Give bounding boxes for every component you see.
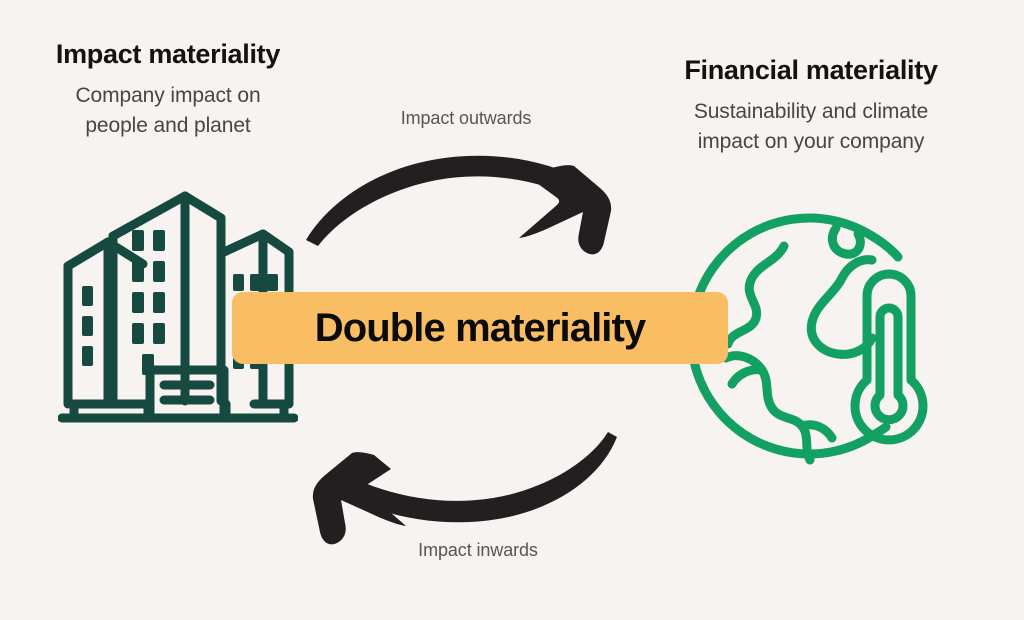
diagram-canvas: Impact materiality Company impact on peo… (0, 0, 1024, 620)
financial-materiality-subtitle-line2: impact on your company (601, 127, 1021, 157)
impact-outwards-arrow-icon (306, 156, 611, 255)
financial-materiality-heading-group: Financial materiality Sustainability and… (601, 56, 1021, 156)
thermometer-icon (855, 274, 923, 440)
impact-materiality-title: Impact materiality (0, 40, 378, 70)
financial-materiality-subtitle: Sustainability and climate impact on you… (601, 97, 1021, 157)
financial-materiality-title: Financial materiality (601, 56, 1021, 86)
financial-materiality-subtitle-line1: Sustainability and climate (601, 97, 1021, 127)
impact-inwards-label: Impact inwards (328, 540, 628, 561)
impact-inwards-arrow-icon (313, 432, 617, 544)
globe-outline-arc-right (872, 236, 898, 257)
impact-materiality-subtitle-line1: Company impact on (0, 81, 378, 111)
double-materiality-banner: Double materiality (232, 292, 728, 364)
impact-outwards-label: Impact outwards (316, 108, 616, 129)
double-materiality-label: Double materiality (315, 308, 646, 348)
